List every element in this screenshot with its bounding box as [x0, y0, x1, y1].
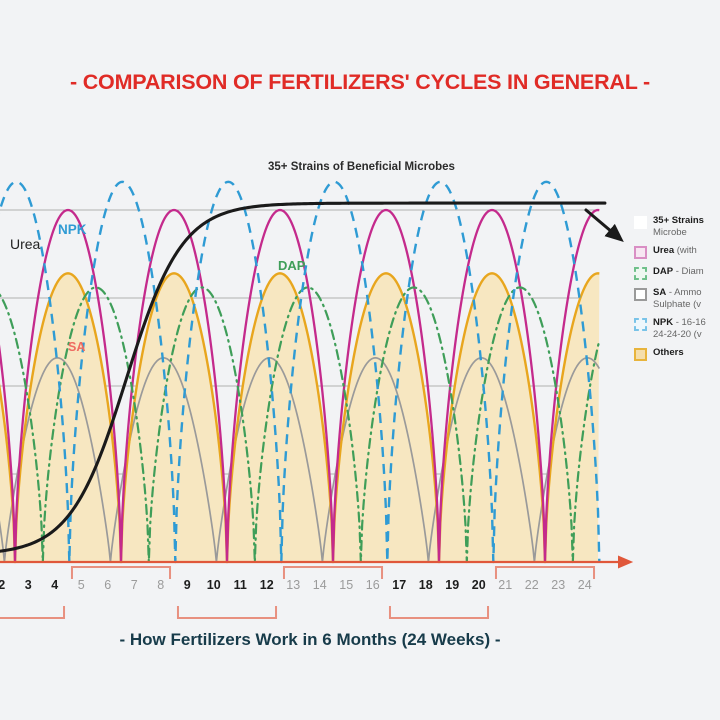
week-label-24: 24 [572, 578, 598, 592]
week-label-23: 23 [545, 578, 571, 592]
week-label-3: 3 [15, 578, 41, 592]
chart-svg [0, 150, 720, 580]
legend-item-npk[interactable]: NPK - 16-1624-24-20 (v [634, 317, 720, 340]
week-label-7: 7 [121, 578, 147, 592]
week-group-bracket-5-8 [72, 567, 170, 578]
legend-label-urea: Urea (with [653, 245, 697, 257]
week-group-bracket-9-12 [178, 607, 276, 618]
week-label-19: 19 [439, 578, 465, 592]
week-label-13: 13 [280, 578, 306, 592]
week-label-20: 20 [466, 578, 492, 592]
chart-page: - COMPARISON OF FERTILIZERS' CYCLES IN G… [0, 0, 720, 720]
sa-swatch [634, 288, 647, 301]
week-label-6: 6 [95, 578, 121, 592]
microbe-swatch [634, 216, 647, 229]
week-label-9: 9 [174, 578, 200, 592]
week-group-bracket-17-20 [390, 607, 488, 618]
chart-caption: - How Fertilizers Work in 6 Months (24 W… [0, 630, 620, 650]
legend-item-dap[interactable]: DAP - Diam [634, 266, 720, 280]
week-label-4: 4 [42, 578, 68, 592]
microbes-annotation: 35+ Strains of Beneficial Microbes [268, 161, 455, 173]
legend-item-microbes[interactable]: 35+ StrainsMicrobe [634, 215, 720, 238]
npk-swatch [634, 318, 647, 331]
week-label-22: 22 [519, 578, 545, 592]
week-label-8: 8 [148, 578, 174, 592]
legend-item-others[interactable]: Others [634, 347, 720, 361]
week-label-2: 2 [0, 578, 15, 592]
week-group-bracket-1-4 [0, 607, 64, 618]
urea-swatch [634, 246, 647, 259]
legend-item-urea[interactable]: Urea (with [634, 245, 720, 259]
legend-label-microbes: 35+ StrainsMicrobe [653, 215, 704, 238]
week-label-10: 10 [201, 578, 227, 592]
dap-annotation: DAP [278, 258, 305, 273]
week-label-12: 12 [254, 578, 280, 592]
urea-annotation: Urea [10, 236, 40, 252]
legend-label-others: Others [653, 347, 684, 359]
npk-annotation: NPK [58, 222, 87, 237]
others-swatch [634, 348, 647, 361]
week-label-16: 16 [360, 578, 386, 592]
chart-legend: 35+ StrainsMicrobeUrea (withDAP - DiamSA… [634, 215, 720, 368]
legend-label-sa: SA - AmmoSulphate (v [653, 287, 702, 310]
week-label-17: 17 [386, 578, 412, 592]
dap-swatch [634, 267, 647, 280]
legend-label-dap: DAP - Diam [653, 266, 704, 278]
week-group-bracket-13-16 [284, 567, 382, 578]
page-title: - COMPARISON OF FERTILIZERS' CYCLES IN G… [0, 70, 720, 95]
legend-label-npk: NPK - 16-1624-24-20 (v [653, 317, 706, 340]
week-label-18: 18 [413, 578, 439, 592]
week-label-11: 11 [227, 578, 253, 592]
week-label-15: 15 [333, 578, 359, 592]
week-label-21: 21 [492, 578, 518, 592]
week-group-bracket-21-24 [496, 567, 594, 578]
legend-item-sa[interactable]: SA - AmmoSulphate (v [634, 287, 720, 310]
sa-annotation: SA [68, 340, 85, 354]
chart-plot-area [0, 150, 620, 570]
week-axis-labels: 123456789101112131415161718192021222324 [0, 578, 600, 602]
week-label-14: 14 [307, 578, 333, 592]
week-label-5: 5 [68, 578, 94, 592]
